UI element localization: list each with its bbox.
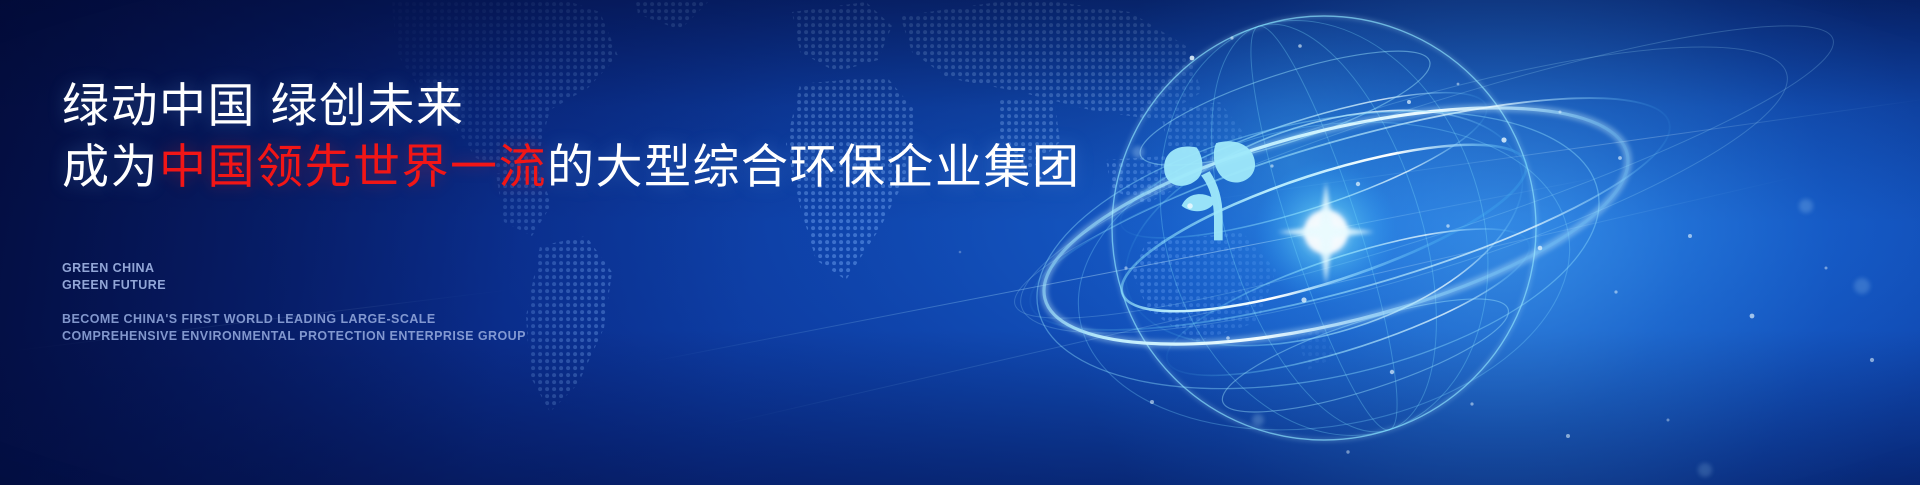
headline-line-1: 绿动中国 绿创未来 [62, 78, 1081, 133]
subtitle-english-short: GREEN CHINA GREEN FUTURE [62, 260, 166, 293]
headline-line-2-prefix: 成为 [62, 140, 159, 193]
subtitle-en-line-2: GREEN FUTURE [62, 277, 166, 294]
subtitle-en-line-1: GREEN CHINA [62, 260, 166, 277]
subtitle-en-long-line-1: BECOME CHINA'S FIRST WORLD LEADING LARGE… [62, 311, 526, 328]
hero-banner: 绿动中国 绿创未来 成为中国领先世界一流的大型综合环保企业集团 GREEN CH… [0, 0, 1920, 485]
subtitle-english-long: BECOME CHINA'S FIRST WORLD LEADING LARGE… [62, 311, 526, 344]
headline-line-2-suffix: 的大型综合环保企业集团 [547, 140, 1081, 193]
hero-content: 绿动中国 绿创未来 成为中国领先世界一流的大型综合环保企业集团 GREEN CH… [62, 0, 1062, 485]
headline-block: 绿动中国 绿创未来 成为中国领先世界一流的大型综合环保企业集团 [62, 78, 1081, 195]
headline-line-2: 成为中国领先世界一流的大型综合环保企业集团 [62, 139, 1081, 194]
subtitle-en-long-line-2: COMPREHENSIVE ENVIRONMENTAL PROTECTION E… [62, 328, 526, 345]
headline-line-2-accent: 中国领先世界一流 [159, 140, 547, 193]
